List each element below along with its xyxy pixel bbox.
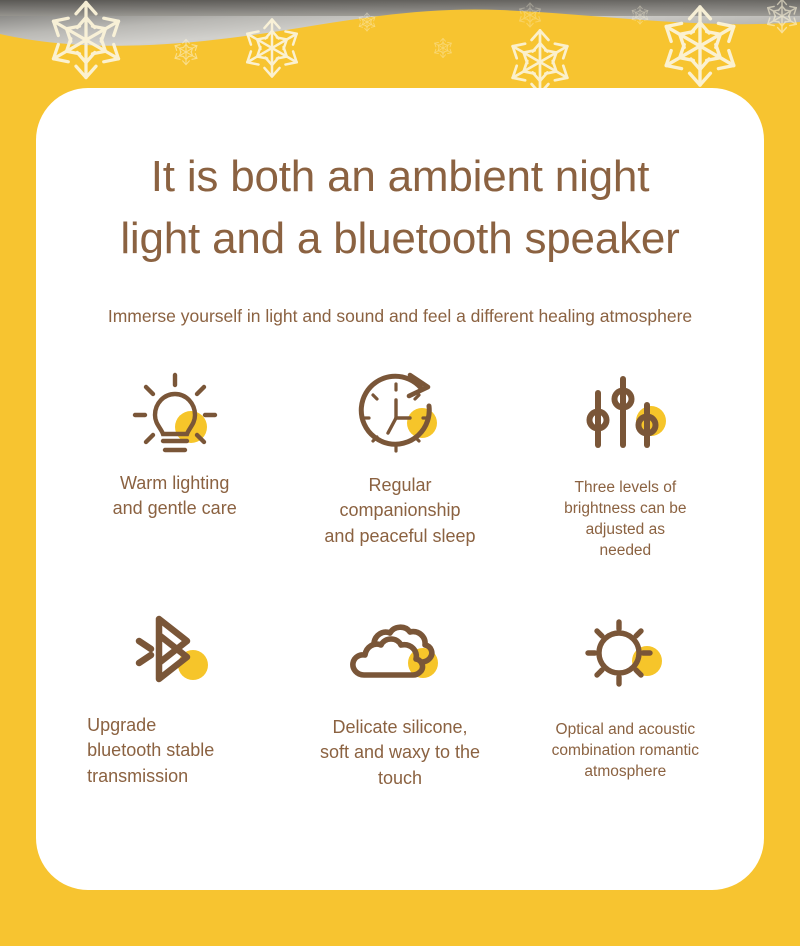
feature-item-warm-lighting: Warm lighting and gentle care [62,363,287,561]
feature-label-line: and peaceful sleep [324,526,475,546]
feature-label-line: touch [378,768,422,788]
feature-item-regular-companionship: Regular companionship and peaceful sleep [287,363,512,561]
brightness-slider-icon [571,363,679,459]
feature-label-line: companionship [339,500,460,520]
feature-label-line: Regular [368,475,431,495]
feature-label-line: atmosphere [584,763,666,780]
feature-label-line: transmission [87,766,188,786]
clouds-icon [340,605,460,701]
feature-label-line: bluetooth stable [87,740,214,760]
clock-timer-icon [346,363,454,459]
bluetooth-icon [121,605,229,701]
feature-label-line: Optical and acoustic [556,721,696,738]
feature-label: Regular companionship and peaceful sleep [324,473,475,550]
feature-grid-row-2: Upgrade bluetooth stable transmission De… [62,605,738,792]
feature-label: Three levels of brightness can be adjust… [564,477,686,561]
feature-item-optical-acoustic: Optical and acoustic combination romanti… [513,605,738,792]
content-card: It is both an ambient night light and a … [36,88,764,890]
feature-label: Delicate silicone, soft and waxy to the … [320,715,480,792]
feature-item-brightness-levels: Three levels of brightness can be adjust… [513,363,738,561]
feature-label-line: Three levels of [574,479,676,496]
feature-label-line: Delicate silicone, [332,717,467,737]
light-bulb-icon [121,363,229,459]
feature-label-line: brightness can be [564,500,686,517]
feature-label-line: soft and waxy to the [320,742,480,762]
feature-label-line: combination romantic [552,742,699,759]
feature-label: Warm lighting and gentle care [113,471,237,522]
feature-label-line: Warm lighting [120,473,229,493]
page-title-line-2: light and a bluetooth speaker [120,214,679,263]
feature-grid-row-1: Warm lighting and gentle care [62,363,738,561]
feature-label-line: and gentle care [113,498,237,518]
page-title-line-1: It is both an ambient night [151,152,649,201]
feature-label: Optical and acoustic combination romanti… [552,719,699,782]
feature-item-bluetooth: Upgrade bluetooth stable transmission [62,605,287,792]
feature-label-line: Upgrade [87,715,156,735]
feature-label-line: adjusted as [586,521,665,538]
feature-label-line: needed [599,542,651,559]
feature-label: Upgrade bluetooth stable transmission [87,713,262,790]
feature-item-silicone: Delicate silicone, soft and waxy to the … [287,605,512,792]
sun-icon [571,605,679,701]
page-subtitle: Immerse yourself in light and sound and … [62,271,738,329]
page-title: It is both an ambient night light and a … [62,88,738,271]
